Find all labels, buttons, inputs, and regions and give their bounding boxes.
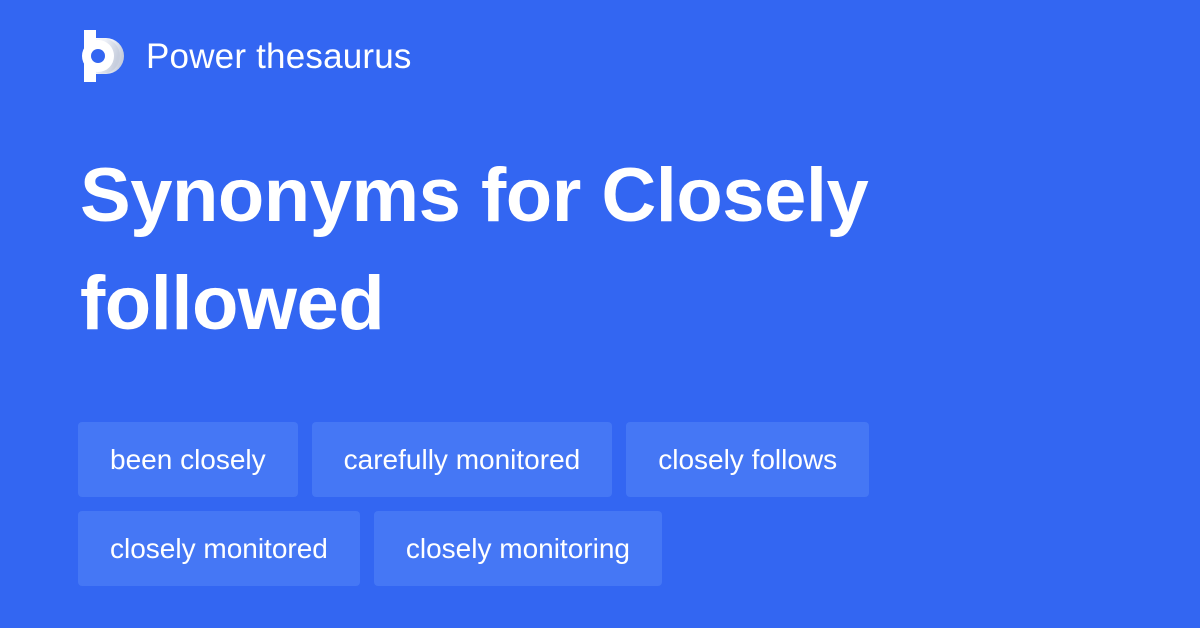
power-thesaurus-b-logo-icon xyxy=(80,30,124,82)
synonym-chip-list: been closely carefully monitored closely… xyxy=(78,422,1138,586)
synonym-chip[interactable]: closely follows xyxy=(626,422,869,497)
synonym-chip[interactable]: closely monitored xyxy=(78,511,360,586)
share-card: Power thesaurus Synonyms for Closely fol… xyxy=(0,0,1200,628)
synonym-chip[interactable]: carefully monitored xyxy=(312,422,613,497)
brand-header[interactable]: Power thesaurus xyxy=(80,28,412,84)
synonym-chip[interactable]: been closely xyxy=(78,422,298,497)
page-title: Synonyms for Closely followed xyxy=(80,142,1080,358)
synonym-chip[interactable]: closely monitoring xyxy=(374,511,662,586)
brand-name: Power thesaurus xyxy=(146,39,412,74)
